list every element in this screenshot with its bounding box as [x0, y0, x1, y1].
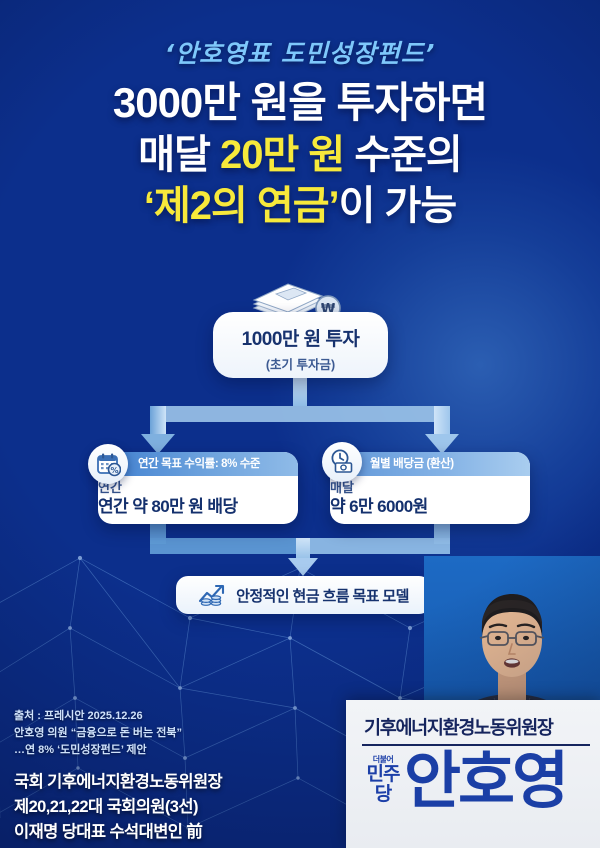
growth-chart-coins-icon	[198, 583, 228, 607]
monthly-dividend-line-1: 매달	[330, 480, 530, 496]
placard-divider	[362, 744, 590, 746]
source-credit: 출처 : 프레시안 2025.12.26 안호영 의원 “금융으로 돈 버는 전…	[14, 708, 334, 759]
politician-bio: 국회 기후에너지환경노동위원장 제20,21,22대 국회의원(3선) 이재명 …	[14, 770, 344, 845]
svg-text:%: %	[110, 466, 118, 475]
headline-highlight-pension: ‘제2의 연금’	[144, 184, 339, 228]
headline-line-2-part-c: 수준의	[344, 133, 462, 177]
headline-line-1: 3000만 원을 투자하면	[0, 78, 600, 128]
placard-party: 더불어 민주당	[366, 756, 400, 804]
bio-line-3: 이재명 당대표 수석대변인 前	[14, 820, 344, 845]
initial-investment-subtitle: (초기 투자금)	[213, 354, 388, 373]
placard-title: 기후에너지환경노동위원장	[364, 714, 590, 740]
flow-node-stable-cashflow-model: 안정적인 현금 흐름 목표 모델	[176, 576, 431, 614]
monthly-dividend-line-2: 약 6만 6000원	[330, 496, 530, 517]
eyebrow-script-text: ‘안호영표 도민성장펀드’	[0, 34, 600, 70]
headline-line-3-part-b: 이 가능	[339, 184, 457, 228]
annual-dividend-header: 연간 목표 수익률: 8% 수준	[98, 452, 298, 476]
stable-cashflow-title: 안정적인 현금 흐름 목표 모델	[236, 585, 409, 606]
bio-line-1: 국회 기후에너지환경노동위원장	[14, 770, 344, 795]
headline-line-3: ‘제2의 연금’이 가능	[0, 183, 600, 230]
placard-party-prefix: 더불어	[366, 756, 400, 764]
flow-node-initial-investment: 1000만 원 투자 (초기 투자금)	[213, 312, 388, 378]
placard-name: 안호영	[404, 752, 596, 812]
source-line-3: …연 8% ‘도민성장펀드’ 제안	[14, 742, 334, 759]
annual-dividend-line-2: 연간 약 80만 원 배당	[98, 496, 298, 517]
headline: 3000만 원을 투자하면 매달 20만 원 수준의 ‘제2의 연금’이 가능	[0, 78, 600, 230]
headline-line-2: 매달 20만 원 수준의	[0, 132, 600, 179]
annual-dividend-line-1: 연간	[98, 480, 298, 496]
headline-line-2-part-a: 매달	[138, 133, 220, 177]
podium-placard: 기후에너지환경노동위원장 더불어 민주당 안호영	[346, 700, 600, 848]
source-line-2: 안호영 의원 “금융으로 돈 버는 전북”	[14, 725, 334, 742]
placard-party-name: 민주당	[367, 764, 400, 804]
monthly-dividend-body: 매달 약 6만 6000원	[330, 476, 530, 517]
clock-banknote-icon	[322, 442, 362, 482]
bio-line-2: 제20,21,22대 국회의원(3선)	[14, 795, 344, 820]
infographic-poster: ‘안호영표 도민성장펀드’ 3000만 원을 투자하면 매달 20만 원 수준의…	[0, 0, 600, 848]
source-line-1: 출처 : 프레시안 2025.12.26	[14, 708, 334, 725]
initial-investment-title: 1000만 원 투자	[213, 324, 388, 351]
flow-node-annual-dividend: 연간 목표 수익률: 8% 수준 연간 연간 약 80만 원 배당	[98, 452, 298, 524]
calendar-percent-icon: %	[88, 444, 128, 484]
annual-dividend-body: 연간 연간 약 80만 원 배당	[98, 476, 298, 517]
headline-highlight-amount: 20만 원	[220, 133, 344, 177]
